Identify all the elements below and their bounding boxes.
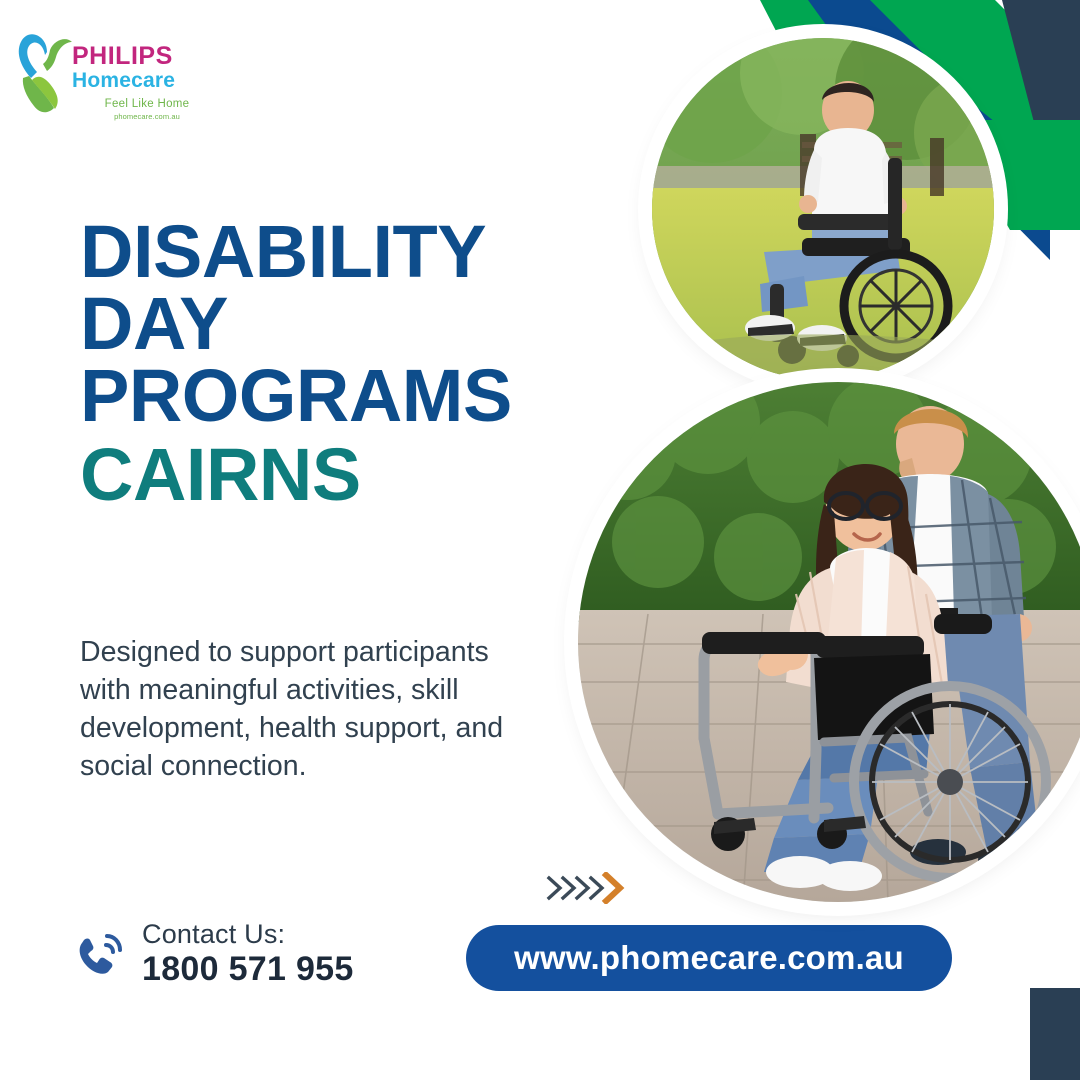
photo-man-in-wheelchair-park (652, 38, 994, 380)
headline-line-1: DISABILITY (80, 216, 600, 288)
headline: DISABILITY DAY PROGRAMS CAIRNS (80, 216, 600, 511)
logo-url: phomecare.com.au (72, 112, 222, 121)
body-copy: Designed to support participants with me… (80, 634, 560, 786)
photo-woman-wheelchair-with-carer (578, 382, 1080, 902)
website-url-text: www.phomecare.com.au (514, 939, 904, 977)
contact-label: Contact Us: (142, 920, 354, 950)
body-line-1: Designed to support participants (80, 634, 560, 672)
navy-corner-block (1030, 988, 1080, 1080)
heart-swoosh-icon (14, 26, 80, 118)
logo-philips-text: PHILIPS (72, 44, 222, 69)
brand-logo: PHILIPS Homecare Feel Like Home phomecar… (14, 26, 214, 131)
logo-homecare-text: Homecare (72, 69, 222, 93)
phone-ringing-icon (72, 930, 128, 986)
chevron-arrows-icon (546, 872, 626, 904)
body-line-2: with meaningful activities, skill (80, 672, 560, 710)
headline-city: CAIRNS (80, 439, 600, 511)
logo-tagline: Feel Like Home (72, 98, 222, 110)
body-line-4: social connection. (80, 748, 560, 786)
website-pill-button[interactable]: www.phomecare.com.au (466, 925, 952, 991)
contact-phone-number[interactable]: 1800 571 955 (142, 950, 354, 989)
headline-line-3: PROGRAMS (80, 360, 600, 432)
headline-line-2: DAY (80, 288, 600, 360)
contact-block: Contact Us: 1800 571 955 (72, 920, 412, 1000)
poster-canvas: PHILIPS Homecare Feel Like Home phomecar… (0, 0, 1080, 1080)
body-line-3: development, health support, and (80, 710, 560, 748)
